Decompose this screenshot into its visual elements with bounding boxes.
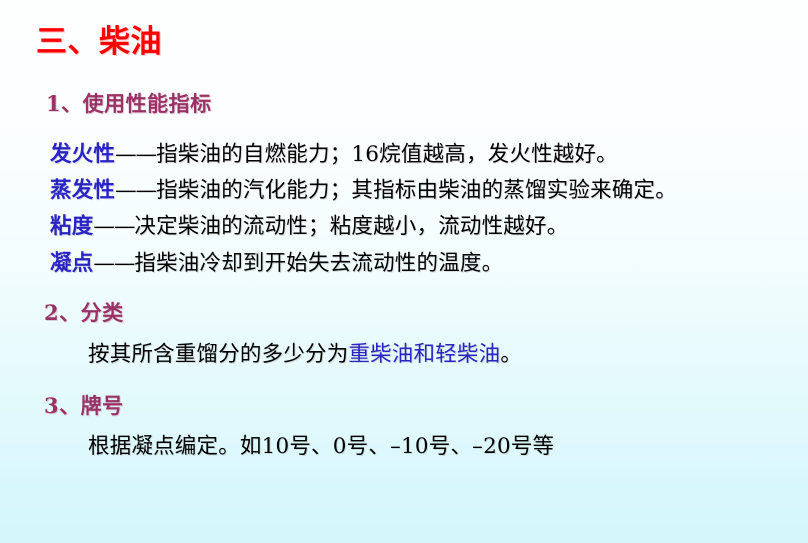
- term-pour-point: 凝点: [50, 251, 93, 276]
- paragraph-classification: 按其所含重馏分的多少分为重柴油和轻柴油。: [88, 340, 522, 369]
- body-text-volatility: 指柴油的汽化能力；其指标由柴油的蒸馏实验来确定。: [156, 178, 677, 203]
- em-dash-separator: ——: [93, 214, 134, 239]
- page-title: 三、柴油: [36, 22, 162, 62]
- section-heading-classification: 2、分类: [44, 299, 124, 327]
- highlight-diesel-types: 重柴油和轻柴油: [348, 342, 500, 367]
- body-line-ignitability: 发火性——指柴油的自燃能力；16烷值越高，发火性越好。: [50, 140, 618, 169]
- term-ignitability: 发火性: [50, 142, 115, 167]
- body-text-viscosity: 决定柴油的流动性；粘度越小，流动性越好。: [134, 214, 568, 239]
- em-dash-separator: ——: [115, 178, 156, 203]
- paragraph-text-grade: 根据凝点编定。如10号、0号、–10号、–20号等: [88, 434, 554, 459]
- section-heading-grade: 3、牌号: [44, 392, 124, 420]
- em-dash-separator: ——: [115, 142, 156, 167]
- paragraph-grade: 根据凝点编定。如10号、0号、–10号、–20号等: [88, 432, 554, 461]
- slide-canvas: 三、柴油 1、使用性能指标 发火性——指柴油的自燃能力；16烷值越高，发火性越好…: [0, 0, 808, 543]
- body-line-volatility: 蒸发性——指柴油的汽化能力；其指标由柴油的蒸馏实验来确定。: [50, 176, 677, 205]
- section-heading-usage-indicators: 1、使用性能指标: [46, 90, 212, 118]
- em-dash-separator: ——: [93, 251, 134, 276]
- term-volatility: 蒸发性: [50, 178, 115, 203]
- body-line-viscosity: 粘度——决定柴油的流动性；粘度越小，流动性越好。: [50, 212, 568, 241]
- term-viscosity: 粘度: [50, 214, 93, 239]
- body-line-pour-point: 凝点——指柴油冷却到开始失去流动性的温度。: [50, 249, 503, 278]
- paragraph-text-after: 。: [500, 342, 522, 367]
- body-text-pour-point: 指柴油冷却到开始失去流动性的温度。: [134, 251, 503, 276]
- body-text-ignitability: 指柴油的自燃能力；16烷值越高，发火性越好。: [156, 142, 618, 167]
- paragraph-text-before: 按其所含重馏分的多少分为: [88, 342, 348, 367]
